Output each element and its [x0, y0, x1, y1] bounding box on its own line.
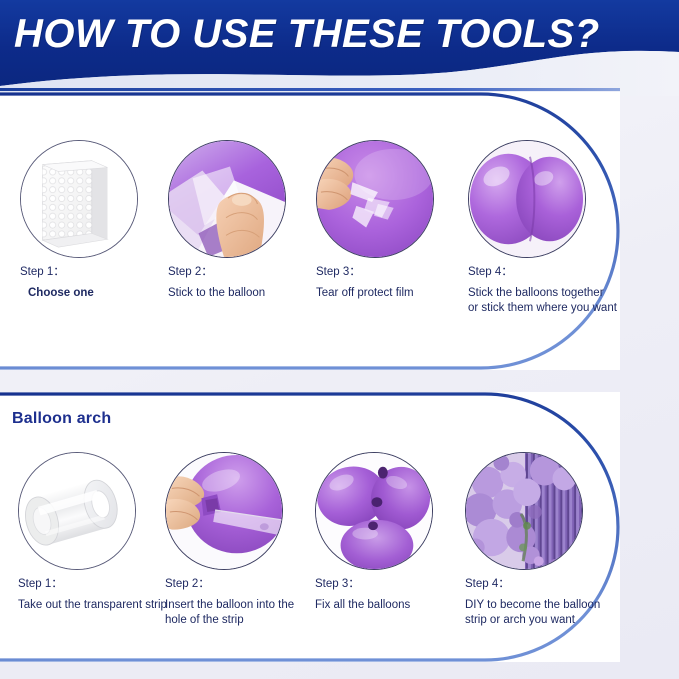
- two-balloons-graphic: [469, 141, 585, 257]
- header-divider: [0, 88, 620, 91]
- balloon-arch-graphic: [466, 453, 582, 569]
- step-description: Take out the transparent strip: [18, 598, 178, 613]
- step-cell: Step 3： Fix all the balloons: [315, 452, 475, 613]
- two-balloons-stuck-together-image: [468, 140, 586, 258]
- glue-dot-sheet-image: [20, 140, 138, 258]
- step-label: Step 3：: [315, 579, 475, 591]
- step-description: Fix all the balloons: [315, 598, 475, 613]
- step-description: Stick to the balloon: [168, 286, 328, 301]
- step-label: Step 3：: [316, 267, 476, 279]
- step-cell: Step 3： Tear off protect film: [316, 140, 476, 301]
- step-cell: Step 1： Choose one: [20, 140, 180, 301]
- step-cell: Step 2： Stick to the balloon: [168, 140, 328, 301]
- glue-dot-sheet-graphic: [21, 141, 137, 257]
- step-cell: Step 4： DIY to become the balloon strip …: [465, 452, 625, 628]
- panel-basic-steps: Step 1： Choose one: [0, 92, 620, 370]
- step-description: Stick the balloons together or stick the…: [468, 286, 628, 316]
- hand-sticking-film-to-balloon-image: [168, 140, 286, 258]
- step-description: Tear off protect film: [316, 286, 476, 301]
- panel-balloon-arch: Balloon arch: [0, 392, 620, 662]
- step-cell: Step 1： Take out the transparent strip: [18, 452, 178, 613]
- tape-roll-graphic: [19, 453, 135, 569]
- hand-inserting-balloon-into-strip-image: [165, 452, 283, 570]
- step-label: Step 2：: [168, 267, 328, 279]
- hand-film-balloon-graphic: [169, 141, 285, 257]
- header-banner: HOW TO USE THESE TOOLS?: [0, 0, 679, 96]
- step-description: DIY to become the balloon strip or arch …: [465, 598, 625, 628]
- page-title: HOW TO USE THESE TOOLS?: [14, 12, 674, 57]
- infographic-root: HOW TO USE THESE TOOLS?: [0, 0, 679, 679]
- step-label: Step 2：: [165, 579, 325, 591]
- step-label: Step 1：: [18, 579, 178, 591]
- step-description: Choose one: [20, 286, 180, 301]
- three-balloons-graphic: [316, 453, 432, 569]
- purple-balloon-arch-decoration-image: [465, 452, 583, 570]
- three-balloons-fixed-together-image: [315, 452, 433, 570]
- step-label: Step 1：: [20, 267, 180, 279]
- step-label: Step 4：: [468, 267, 628, 279]
- step-label: Step 4：: [465, 579, 625, 591]
- step-cell: Step 2： Insert the balloon into the hole…: [165, 452, 325, 628]
- transparent-tape-roll-image: [18, 452, 136, 570]
- tear-film-graphic: [317, 141, 433, 257]
- step-description: Insert the balloon into the hole of the …: [165, 598, 325, 628]
- hand-tearing-protect-film-image: [316, 140, 434, 258]
- step-cell: Step 4： Stick the balloons together or s…: [468, 140, 628, 316]
- insert-balloon-graphic: [166, 453, 282, 569]
- panel-heading: Balloon arch: [12, 410, 111, 428]
